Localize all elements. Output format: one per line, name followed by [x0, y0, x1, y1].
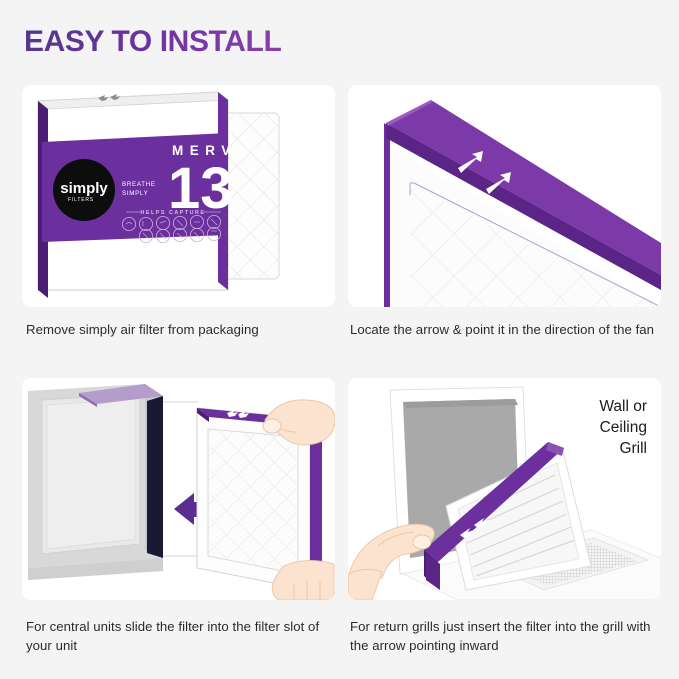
- wall-ceiling-grill-label: Wall or Ceiling Grill: [599, 396, 647, 459]
- brand-logo: simply FILTERS: [53, 159, 115, 221]
- grill-label-line-2: Ceiling: [599, 417, 647, 438]
- tagline-line-2: SIMPLY: [122, 190, 148, 197]
- tagline-line-1: BREATHE: [122, 181, 156, 188]
- grill-label-line-1: Wall or: [599, 396, 647, 417]
- helps-capture-label: HELPS CAPTURE: [140, 210, 205, 216]
- grill-label-line-3: Grill: [599, 438, 647, 459]
- brand-name-text: simply: [60, 180, 108, 197]
- frame-left-edge: [384, 123, 390, 307]
- alignment-guides: [163, 402, 198, 556]
- filter-box-packaging-illustration: simply FILTERS BREATHE SIMPLY MERV 13 HE…: [22, 85, 335, 307]
- step-1-illustration-card: simply FILTERS BREATHE SIMPLY MERV 13 HE…: [22, 85, 335, 307]
- easy-to-install-infographic: EASY TO INSTALL: [0, 0, 679, 679]
- step-4-illustration-card: Wall or Ceiling Grill: [348, 378, 661, 600]
- filter-edge-arrows-illustration: [348, 85, 661, 307]
- step-3-illustration-card: [22, 378, 335, 600]
- step-3-caption: For central units slide the filter into …: [26, 617, 338, 655]
- step-1-caption: Remove simply air filter from packaging: [26, 320, 336, 339]
- step-4-caption: For return grills just insert the filter…: [350, 617, 665, 655]
- step-2-caption: Locate the arrow & point it in the direc…: [350, 320, 660, 339]
- filter-slot: [147, 396, 163, 558]
- brand-sub-text: FILTERS: [68, 197, 94, 203]
- page-title: EASY TO INSTALL: [24, 24, 281, 60]
- hvac-unit-body: [28, 384, 163, 580]
- central-unit-slide-illustration: [22, 378, 335, 600]
- step-2-illustration-card: [348, 85, 661, 307]
